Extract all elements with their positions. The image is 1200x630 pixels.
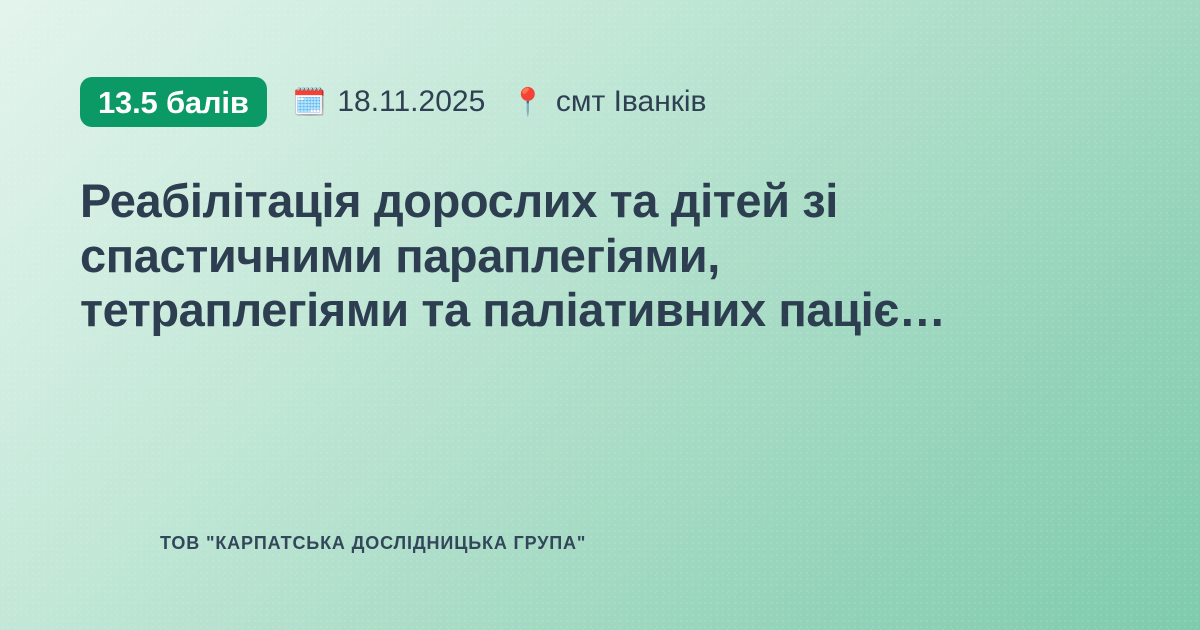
event-date-value: 18.11.2025 [337,87,485,117]
title-line-3: тетраплегіями та паліативних пацiє… [80,283,1120,338]
page-title: Реабілітація дорослих та дітей зі спасти… [80,128,1120,338]
spiral-calendar-icon: 🗓️ [293,89,327,116]
round-pushpin-icon: 📍 [511,89,545,116]
event-date: 🗓️ 18.11.2025 [293,87,486,117]
score-badge: 13.5 балів [80,77,267,127]
event-og-card: 13.5 балів 🗓️ 18.11.2025 📍 смт Іванків Р… [0,0,1200,630]
event-location-value: смт Іванків [556,87,707,117]
meta-row: 13.5 балів 🗓️ 18.11.2025 📍 смт Іванків [80,76,1120,128]
organizer-name: ТОВ "КАРПАТСЬКА ДОСЛІДНИЦЬКА ГРУПА" [160,534,586,552]
title-line-2: спастичними параплегіями, [80,229,1120,284]
card-content: 13.5 балів 🗓️ 18.11.2025 📍 смт Іванків Р… [80,76,1120,630]
event-location: 📍 смт Іванків [511,87,706,117]
title-line-1: Реабілітація дорослих та дітей зі [80,174,1120,229]
